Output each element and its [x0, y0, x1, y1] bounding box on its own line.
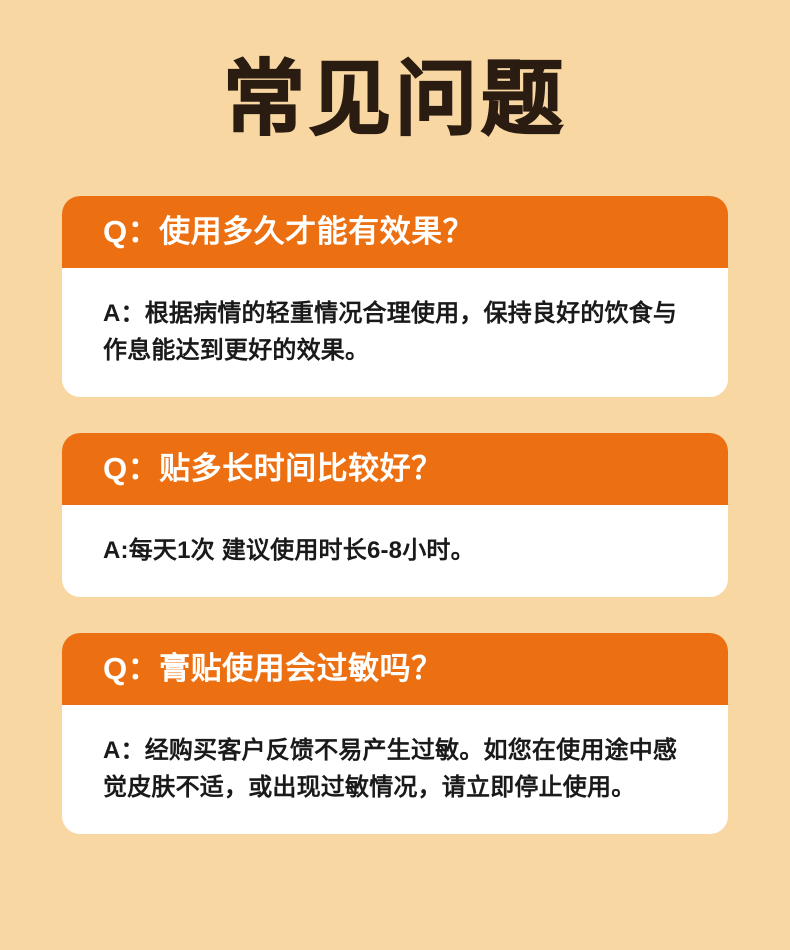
faq-question-text: Q：贴多长时间比较好？ — [103, 451, 443, 487]
faq-card[interactable]: Q：贴多长时间比较好？ A:每天1次 建议使用时长6-8小时。 — [62, 433, 728, 597]
faq-question-header[interactable]: Q：膏贴使用会过敏吗？ — [62, 633, 728, 705]
faq-question-header[interactable]: Q：贴多长时间比较好？ — [62, 433, 728, 505]
faq-answer-text: A:每天1次 建议使用时长6-8小时。 — [103, 532, 690, 569]
faq-answer-text: A：根据病情的轻重情况合理使用，保持良好的饮食与作息能达到更好的效果。 — [103, 295, 690, 369]
faq-question-text: Q：膏贴使用会过敏吗？ — [103, 651, 443, 687]
faq-page: 常见问题 Q：使用多久才能有效果？ A：根据病情的轻重情况合理使用，保持良好的饮… — [0, 0, 790, 950]
faq-answer-text: A：经购买客户反馈不易产生过敏。如您在使用途中感觉皮肤不适，或出现过敏情况，请立… — [103, 732, 690, 806]
faq-question-text: Q：使用多久才能有效果？ — [103, 214, 474, 250]
faq-answer-body: A：经购买客户反馈不易产生过敏。如您在使用途中感觉皮肤不适，或出现过敏情况，请立… — [62, 705, 728, 834]
faq-list: Q：使用多久才能有效果？ A：根据病情的轻重情况合理使用，保持良好的饮食与作息能… — [62, 196, 728, 834]
faq-answer-body: A:每天1次 建议使用时长6-8小时。 — [62, 505, 728, 597]
page-title: 常见问题 — [0, 52, 790, 148]
faq-card[interactable]: Q：膏贴使用会过敏吗？ A：经购买客户反馈不易产生过敏。如您在使用途中感觉皮肤不… — [62, 633, 728, 834]
faq-card[interactable]: Q：使用多久才能有效果？ A：根据病情的轻重情况合理使用，保持良好的饮食与作息能… — [62, 196, 728, 397]
faq-question-header[interactable]: Q：使用多久才能有效果？ — [62, 196, 728, 268]
faq-answer-body: A：根据病情的轻重情况合理使用，保持良好的饮食与作息能达到更好的效果。 — [62, 268, 728, 397]
